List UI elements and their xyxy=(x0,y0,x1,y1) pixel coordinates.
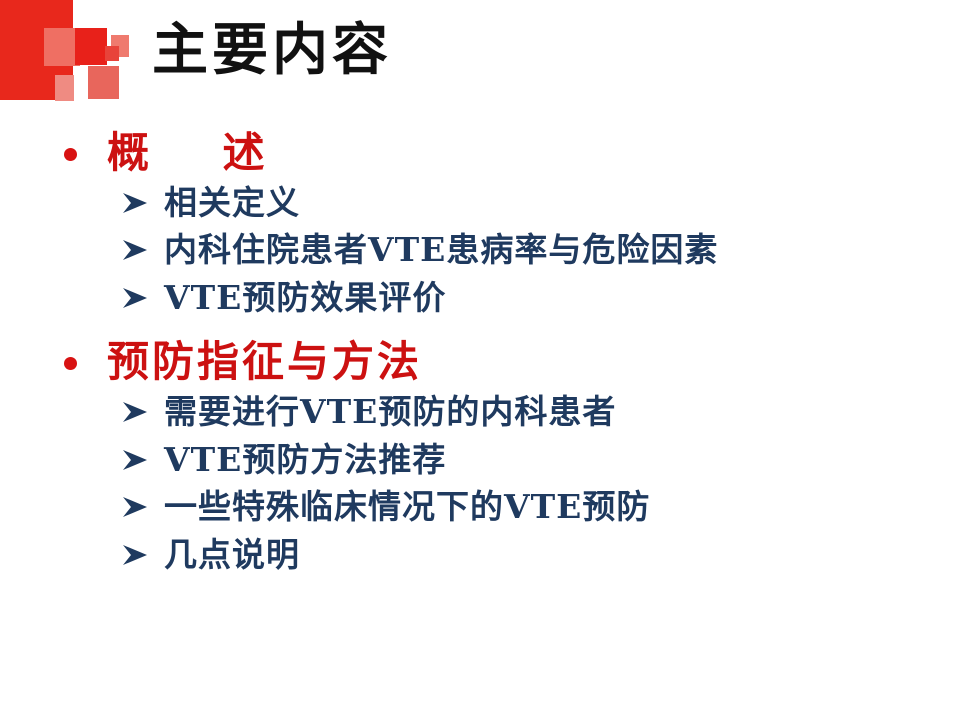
list-item-label: VTE预防方法推荐 xyxy=(164,437,446,484)
arrowhead-icon xyxy=(120,235,150,265)
outline-group: 概 述 相关定义 内科住院患者VTE患病率与危险因素 xyxy=(0,128,960,322)
page-title: 主要内容 xyxy=(152,22,392,78)
outline-group: 预防指征与方法 需要进行VTE预防的内科患者 VTE预防方法推荐 xyxy=(0,337,960,579)
arrowhead-icon xyxy=(120,540,150,570)
list-item-label: 几点说明 xyxy=(164,532,300,579)
list-item: 内科住院患者VTE患病率与危险因素 xyxy=(0,227,960,274)
mid-square-right-icon xyxy=(88,66,119,99)
arrowhead-icon xyxy=(120,445,150,475)
list-item: 需要进行VTE预防的内科患者 xyxy=(0,389,960,436)
list-item: 几点说明 xyxy=(0,532,960,579)
group-spacer xyxy=(0,323,960,337)
arrowhead-icon xyxy=(120,492,150,522)
list-item: VTE预防效果评价 xyxy=(0,275,960,322)
list-item: VTE预防方法推荐 xyxy=(0,437,960,484)
list-item: 相关定义 xyxy=(0,180,960,227)
outline-heading-row: 预防指征与方法 xyxy=(0,337,960,387)
bullet-dot-icon xyxy=(64,357,77,370)
strong-square-mid-icon xyxy=(75,28,107,65)
bullet-dot-icon xyxy=(64,148,77,161)
list-item-label: 相关定义 xyxy=(164,180,300,227)
small-square-bottom-icon xyxy=(55,75,74,101)
list-item-label: 内科住院患者VTE患病率与危险因素 xyxy=(164,227,718,274)
outline-content: 概 述 相关定义 内科住院患者VTE患病率与危险因素 xyxy=(0,128,960,580)
arrowhead-icon xyxy=(120,397,150,427)
outline-heading-text: 预防指征与方法 xyxy=(107,337,422,387)
outline-heading-row: 概 述 xyxy=(0,128,960,178)
list-item-label: VTE预防效果评价 xyxy=(164,275,446,322)
outline-heading-text: 概 述 xyxy=(107,128,268,178)
list-item: 一些特殊临床情况下的VTE预防 xyxy=(0,484,960,531)
list-item-label: 需要进行VTE预防的内科患者 xyxy=(164,389,616,436)
arrowhead-icon xyxy=(120,283,150,313)
tiny-square-right-icon xyxy=(105,46,119,61)
slide-root: 主要内容 概 述 相关定义 xyxy=(0,0,960,720)
decorative-square-motif xyxy=(0,0,150,105)
arrowhead-icon xyxy=(120,188,150,218)
list-item-label: 一些特殊临床情况下的VTE预防 xyxy=(164,484,650,531)
